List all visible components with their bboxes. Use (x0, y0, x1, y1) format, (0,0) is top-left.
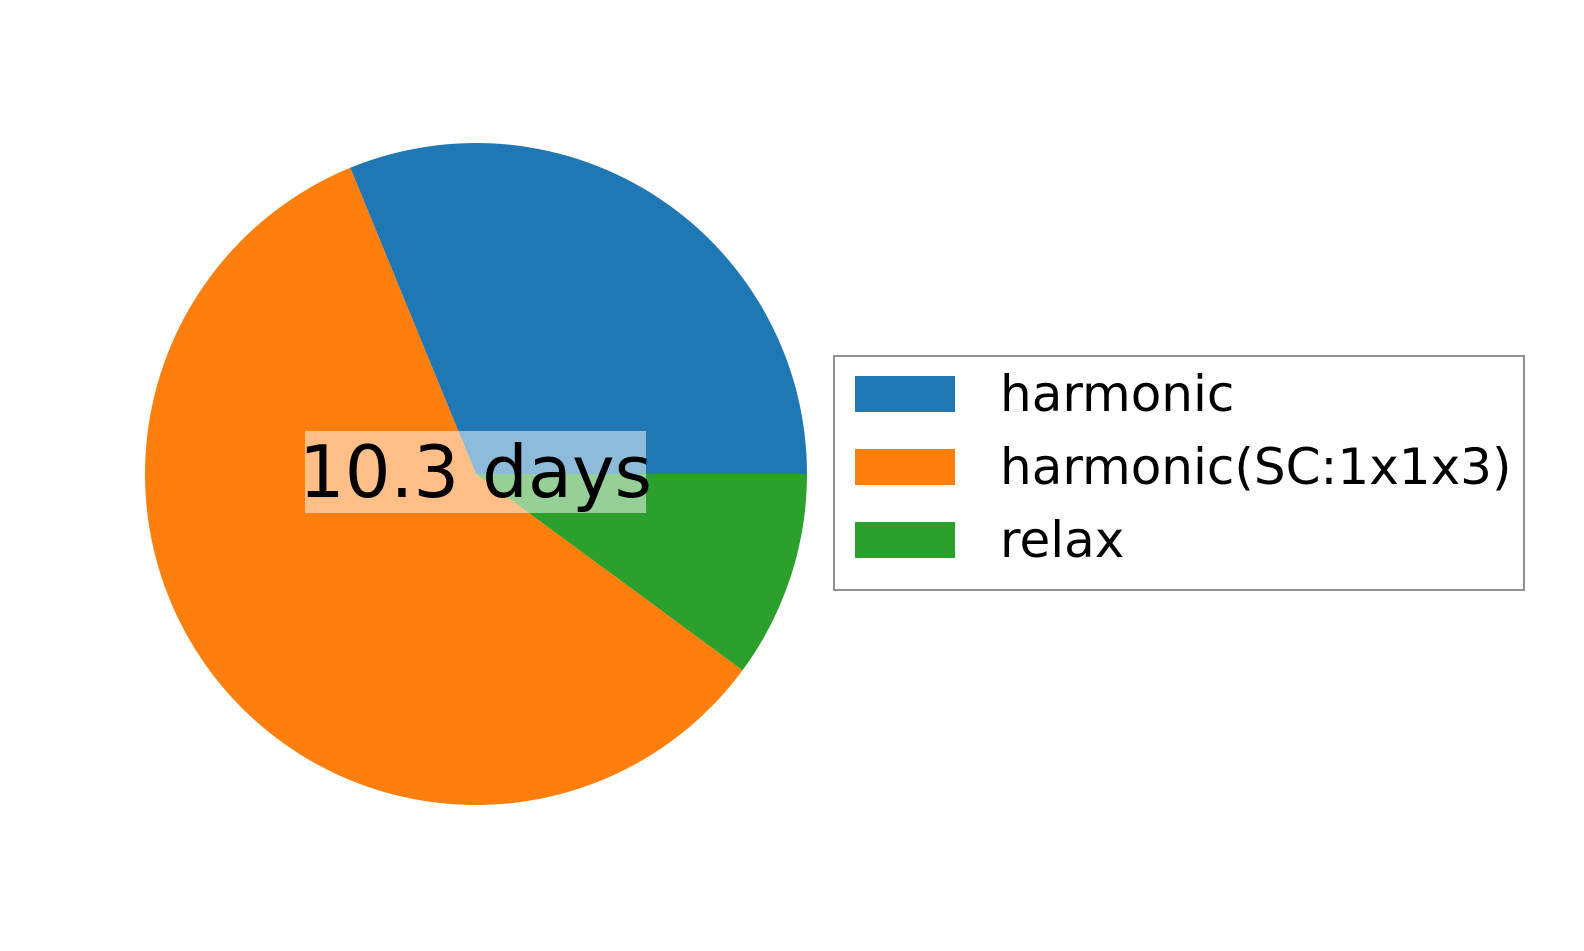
legend-swatch-harmonic-sc (855, 449, 955, 485)
figure-canvas: 10.3 days harmonic harmonic(SC:1x1x3) re… (0, 0, 1584, 951)
legend-entry-relax[interactable]: relax (855, 516, 1124, 564)
legend-swatch-harmonic (855, 376, 955, 412)
legend-entry-harmonic[interactable]: harmonic (855, 370, 1234, 418)
legend-entry-harmonic-sc[interactable]: harmonic(SC:1x1x3) (855, 443, 1512, 491)
legend-label-harmonic: harmonic (1000, 369, 1234, 419)
center-value-text: 10.3 days (299, 436, 652, 508)
legend-label-relax: relax (1000, 515, 1124, 565)
legend-box: harmonic harmonic(SC:1x1x3) relax (833, 355, 1525, 591)
legend-label-harmonic-sc: harmonic(SC:1x1x3) (1000, 442, 1512, 492)
center-value-label: 10.3 days (305, 431, 646, 513)
legend-swatch-relax (855, 522, 955, 558)
